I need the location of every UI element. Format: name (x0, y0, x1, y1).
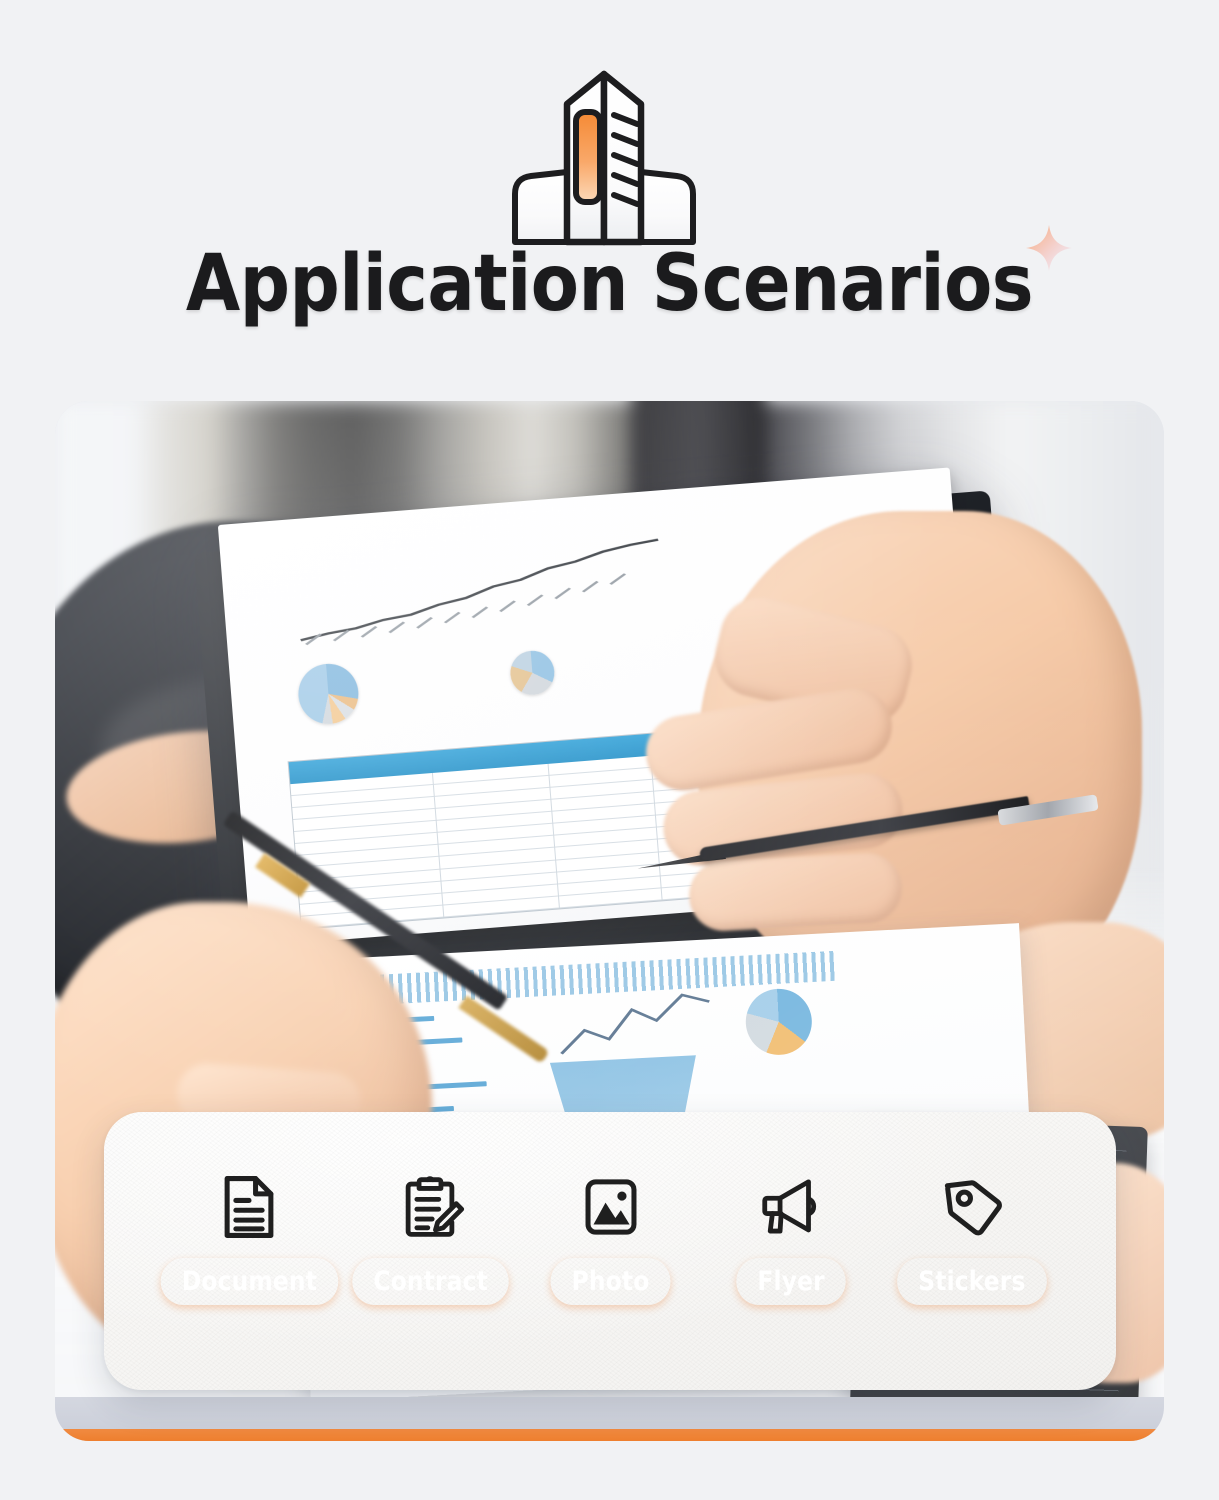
price-tag-icon (935, 1170, 1009, 1244)
clipboard-pencil-icon (393, 1170, 467, 1244)
feature-item-flyer[interactable]: Flyer (701, 1170, 882, 1305)
feature-pill-photo[interactable]: Photo (551, 1258, 671, 1305)
feature-pill-document[interactable]: Document (160, 1258, 337, 1305)
header-section: Application Scenarios (0, 0, 1219, 380)
feature-item-document[interactable]: Document (158, 1170, 340, 1305)
image-photo-icon (574, 1170, 648, 1244)
page-title: Application Scenarios (186, 239, 1033, 329)
page-title-row: Application Scenarios (0, 238, 1219, 330)
sparkle-star-icon (1023, 222, 1075, 274)
panel-orange-edge (63, 1429, 1156, 1441)
application-scenarios-page: Application Scenarios (0, 0, 1219, 1500)
photo-finger (688, 851, 904, 932)
feature-pill-contract[interactable]: Contract (352, 1258, 509, 1305)
sheet-line-chart (553, 983, 717, 1062)
feature-pill-flyer[interactable]: Flyer (736, 1258, 846, 1305)
feature-item-contract[interactable]: Contract (340, 1170, 521, 1305)
sheet-pie-chart-1 (744, 987, 813, 1056)
document-page-icon (212, 1170, 286, 1244)
building-skyscraper-icon (493, 66, 715, 246)
title-wrap: Application Scenarios (186, 238, 1033, 330)
feature-item-stickers[interactable]: Stickers (882, 1170, 1063, 1305)
feature-pill-stickers[interactable]: Stickers (897, 1258, 1047, 1305)
scenario-feature-card: Document Contract (104, 1112, 1116, 1390)
report-pie-chart-1 (296, 662, 361, 727)
megaphone-icon (754, 1170, 828, 1244)
feature-item-photo[interactable]: Photo (521, 1170, 702, 1305)
